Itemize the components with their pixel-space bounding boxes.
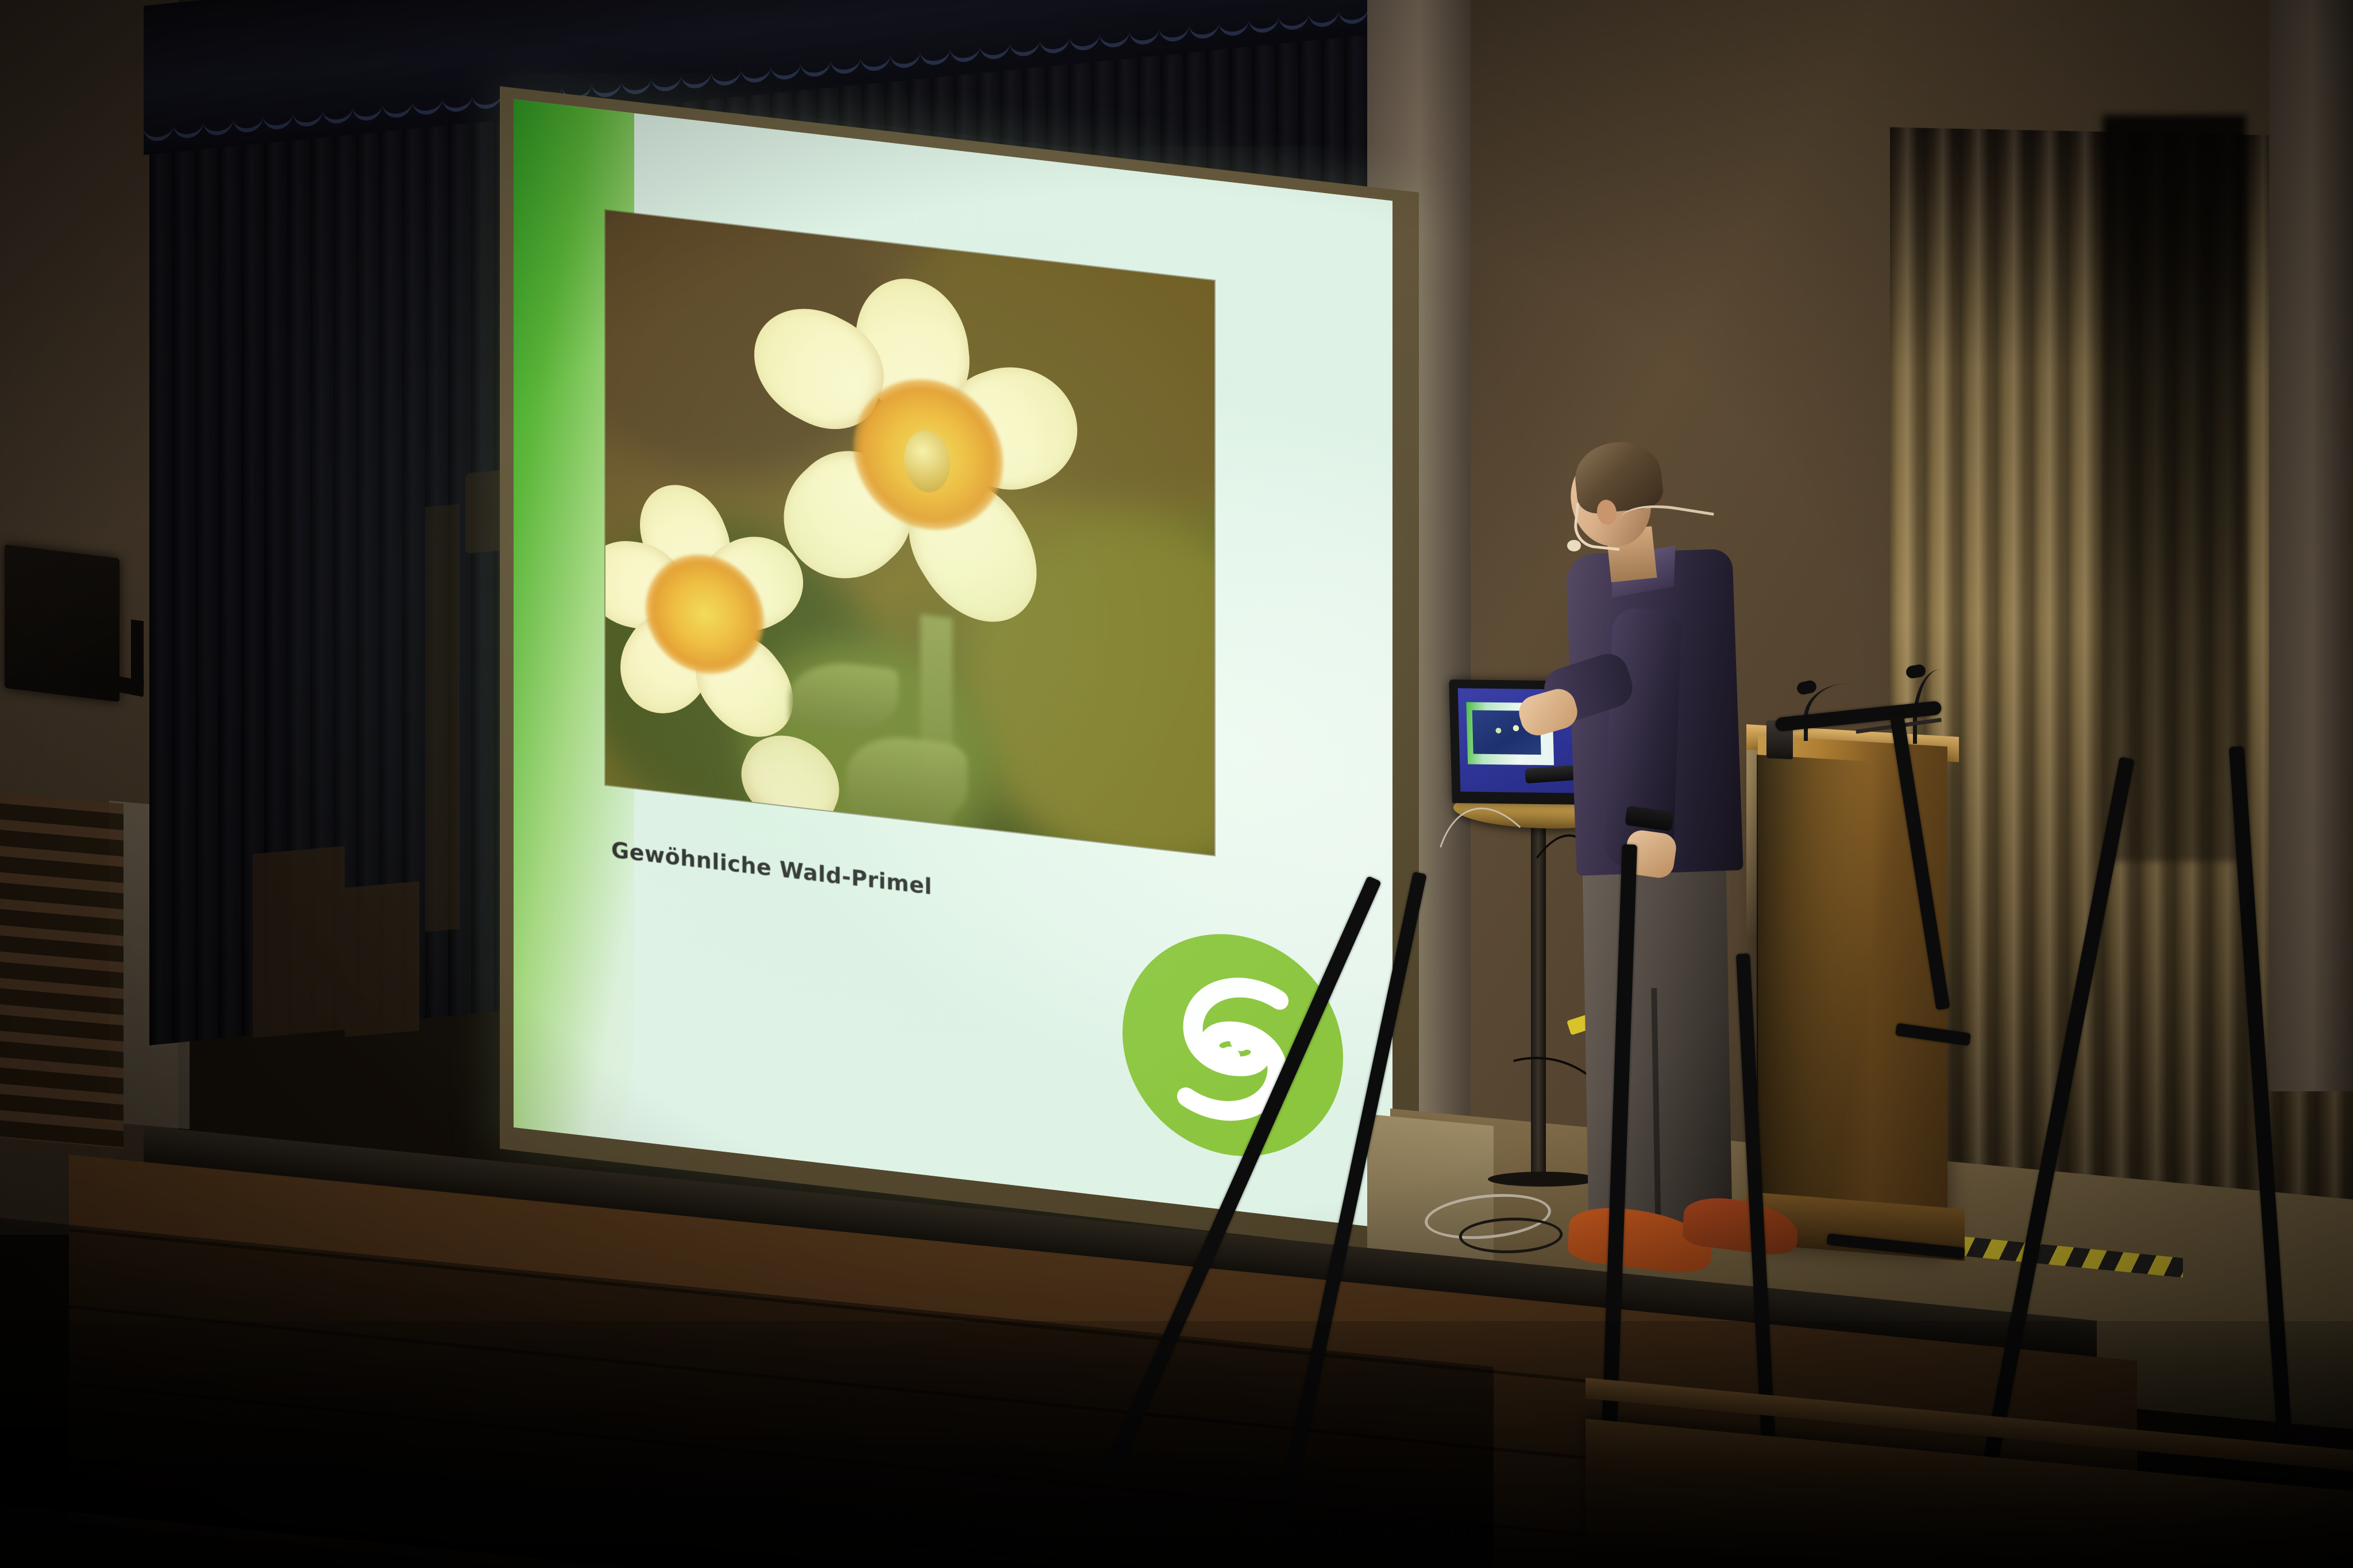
- curtain-scallop: [771, 53, 801, 81]
- curtain-scallop: [831, 48, 861, 75]
- curtain-scallop: [472, 83, 502, 110]
- curtain-scallop: [592, 71, 622, 98]
- lectern-shadow: [1757, 755, 1872, 1233]
- stage-prop: [253, 846, 345, 1038]
- presentation-slide: Gewöhnliche Wald-Primel: [514, 99, 1392, 1229]
- curtain-scallop: [293, 100, 323, 128]
- curtain-scallop: [980, 33, 1010, 60]
- curtain-scallop: [1219, 9, 1249, 37]
- curtain-scallop: [144, 115, 173, 142]
- curtain-shadow: [2103, 115, 2246, 862]
- slide-caption: Gewöhnliche Wald-Primel: [611, 837, 932, 899]
- stage-prop: [425, 504, 460, 932]
- curtain-scallop: [920, 38, 950, 66]
- curtain-scallop: [442, 86, 472, 113]
- curtain-scallop: [801, 51, 831, 78]
- curtain-scallop: [890, 41, 920, 69]
- curtain-scallop: [741, 56, 771, 84]
- lecture-hall-photo: Gewöhnliche Wald-Primel: [0, 0, 2353, 1568]
- curtain-scallop: [1189, 12, 1219, 40]
- curtain-scallop: [1070, 24, 1100, 52]
- curtain-scallop: [1129, 18, 1159, 46]
- curtain-scallop: [412, 88, 442, 116]
- curtain-scallop: [1100, 21, 1129, 49]
- curtain-scallop: [711, 59, 741, 87]
- curtain-scallop: [203, 109, 233, 137]
- curtain-scallop: [1040, 27, 1070, 55]
- wall-bars: [0, 793, 124, 1149]
- stage-prop: [345, 881, 419, 1037]
- curtain-scallop: [1010, 30, 1040, 57]
- curtain-scallop: [1309, 1, 1338, 28]
- curtain-scallop: [651, 65, 681, 92]
- right-wall-edge: [2269, 0, 2353, 1091]
- curtain-scallop: [1279, 3, 1309, 31]
- green-swirl-logo: [1118, 917, 1348, 1173]
- curtain-scallop: [173, 112, 203, 140]
- curtain-scallop: [950, 36, 980, 63]
- curtain-scallop: [1249, 6, 1279, 34]
- flower-leaf: [847, 731, 967, 831]
- curtain-scallop: [263, 103, 293, 131]
- headset-mic-capsule: [1567, 540, 1581, 551]
- curtain-scallop: [353, 94, 383, 122]
- curtain-scallop: [233, 106, 263, 134]
- curtain-scallop: [1159, 16, 1189, 43]
- curtain-scallop: [1338, 0, 1368, 25]
- slide-flower-photo: [605, 210, 1214, 855]
- curtain-scallop: [323, 97, 353, 125]
- curtain-scallop: [681, 62, 711, 90]
- curtain-scallop: [622, 68, 651, 95]
- curtain-scallop: [383, 91, 412, 119]
- curtain-scallop: [861, 45, 890, 72]
